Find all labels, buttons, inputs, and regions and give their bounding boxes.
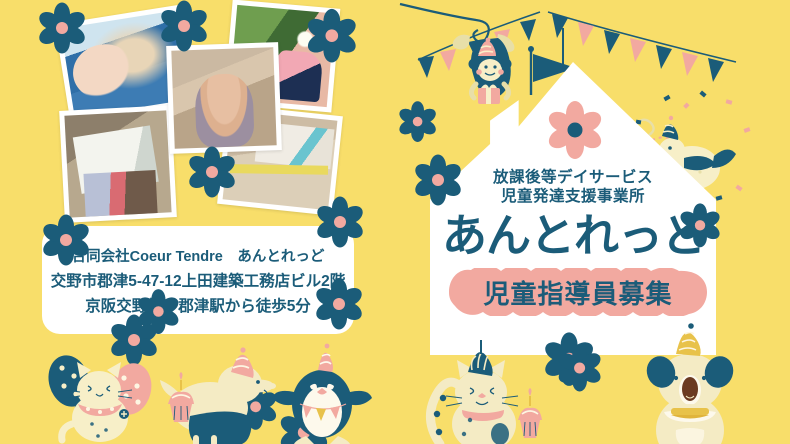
flower-navy-icon [277, 406, 330, 444]
penguin-with-party-hat-and-bunting [272, 344, 372, 444]
address-line-3: 京阪交野線 郡津駅から徒歩5分 [85, 294, 311, 316]
photo-image [64, 110, 171, 217]
flower-navy-icon [397, 101, 439, 142]
balloon-pink [105, 359, 156, 419]
flower-navy-icon [232, 384, 279, 430]
cupcake-icon [168, 372, 194, 422]
page-title: あんとれっど [424, 210, 724, 262]
flagpole-string [562, 28, 564, 70]
photo-child-reading-picture-book [59, 105, 177, 223]
address-line-2: 交野市郡津5-47-12上田建築工務店ビル2階 [51, 269, 346, 291]
bunting-string-left [418, 12, 540, 60]
bunting-left [418, 19, 536, 78]
vine-line [400, 4, 489, 42]
balloon-navy [43, 350, 96, 411]
flower-pink-roof [545, 100, 605, 160]
monkey-with-party-hat-and-gift [453, 34, 515, 104]
subtitle-line-1: 放課後等デイサービス [430, 168, 716, 187]
poster-canvas: 放課後等デイサービス 児童発達支援事業所 あんとれっど 児童指導員募集 合同会社… [0, 0, 790, 444]
banner-label: 児童指導員募集 [449, 268, 707, 316]
photo-toddler-eating-snack [166, 42, 282, 154]
photo-image [171, 47, 276, 149]
status-badge: 児童指導員募集 [449, 268, 707, 316]
bunting-string-right [548, 12, 736, 62]
cupcake-icon [518, 388, 542, 438]
dog-with-party-hat-and-cupcake [160, 347, 276, 444]
cat-with-party-hat-and-cupcake [430, 340, 542, 444]
address-line-1: 合同会社Coeur Tendre あんとれっど [72, 245, 325, 266]
cake-icon [671, 404, 709, 419]
address-card: 合同会社Coeur Tendre あんとれっど 交野市郡津5-47-12上田建築… [42, 226, 354, 334]
house-subtitle: 放課後等デイサービス 児童発達支援事業所 [430, 168, 716, 206]
cat-with-balloons [43, 350, 157, 442]
subtitle-line-2: 児童発達支援事業所 [430, 187, 716, 206]
